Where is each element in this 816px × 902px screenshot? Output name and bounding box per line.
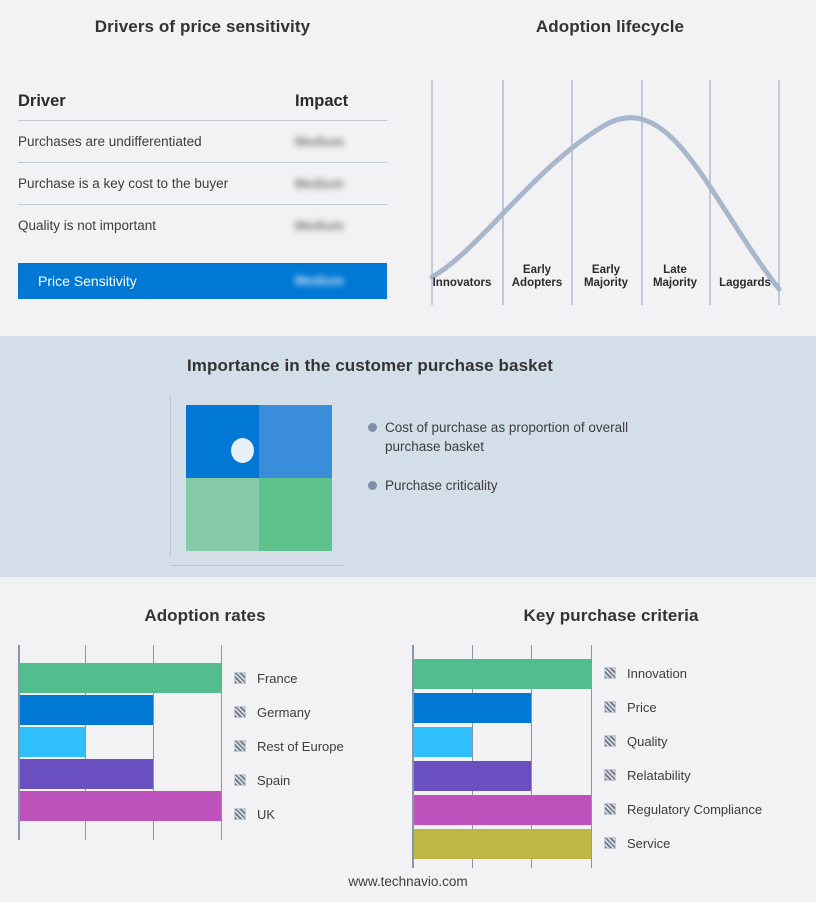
legend-swatch-icon bbox=[234, 808, 246, 820]
legend-item: Price bbox=[604, 690, 762, 724]
legend-swatch-icon bbox=[604, 701, 616, 713]
legend-label: Innovation bbox=[627, 666, 687, 681]
gridline-3 bbox=[591, 645, 592, 868]
column-header-driver: Driver bbox=[18, 92, 295, 111]
key-purchase-criteria-legend: Innovation Price Quality Relatability Re… bbox=[604, 656, 762, 860]
stage-label-line2: Majority bbox=[567, 277, 645, 290]
legend-swatch-icon bbox=[604, 837, 616, 849]
stage-label-line2: Adopters bbox=[498, 277, 576, 290]
column-header-impact: Impact bbox=[295, 92, 387, 111]
stage-label-text: Laggards bbox=[719, 277, 771, 289]
bar-service bbox=[414, 829, 591, 859]
matrix-x-axis bbox=[170, 565, 345, 566]
stage-label-innovators: Innovators bbox=[422, 277, 502, 290]
impact-value-cell: Medium bbox=[295, 217, 387, 235]
driver-label: Quality is not important bbox=[18, 218, 295, 233]
price-sensitivity-summary-row: Price Sensitivity Medium bbox=[18, 263, 387, 299]
basket-legend: Cost of purchase as proportion of overal… bbox=[368, 418, 668, 515]
driver-label: Purchases are undifferentiated bbox=[18, 134, 295, 149]
gridline-3 bbox=[221, 645, 222, 840]
impact-value-obscured: Medium bbox=[295, 219, 344, 233]
legend-label: Germany bbox=[257, 705, 310, 720]
legend-label: Rest of Europe bbox=[257, 739, 344, 754]
stage-label-early-majority: Early Majority bbox=[567, 264, 645, 290]
legend-label: Regulatory Compliance bbox=[627, 802, 762, 817]
legend-item: France bbox=[234, 661, 344, 695]
adoption-rates-title: Adoption rates bbox=[0, 606, 410, 626]
legend-swatch-icon bbox=[604, 735, 616, 747]
key-purchase-criteria-chart bbox=[412, 645, 594, 868]
legend-label: Service bbox=[627, 836, 670, 851]
legend-item: UK bbox=[234, 797, 344, 831]
impact-value-cell: Medium bbox=[295, 175, 387, 193]
bullet-icon bbox=[368, 481, 377, 490]
stage-label-line1: Early bbox=[567, 264, 645, 277]
legend-swatch-icon bbox=[604, 667, 616, 679]
adoption-rates-legend: France Germany Rest of Europe Spain UK bbox=[234, 661, 344, 831]
bullet-icon bbox=[368, 423, 377, 432]
legend-item: Service bbox=[604, 826, 762, 860]
bar-france bbox=[20, 663, 221, 693]
legend-label: Quality bbox=[627, 734, 667, 749]
table-header-row: Driver Impact bbox=[18, 92, 387, 120]
quadrant-bottom-right bbox=[259, 478, 332, 551]
legend-label: Cost of purchase as proportion of overal… bbox=[385, 418, 668, 456]
legend-item: Germany bbox=[234, 695, 344, 729]
legend-item: Cost of purchase as proportion of overal… bbox=[368, 418, 668, 456]
legend-swatch-icon bbox=[604, 803, 616, 815]
bar-relatability bbox=[414, 761, 531, 791]
legend-label: Relatability bbox=[627, 768, 691, 783]
legend-label: Purchase criticality bbox=[385, 476, 498, 495]
legend-item: Quality bbox=[604, 724, 762, 758]
bar-quality bbox=[414, 727, 472, 757]
bar-innovation bbox=[414, 659, 591, 689]
legend-swatch-icon bbox=[234, 706, 246, 718]
legend-label: Price bbox=[627, 700, 657, 715]
impact-value-obscured: Medium bbox=[295, 177, 344, 191]
lifecycle-panel-title: Adoption lifecycle bbox=[410, 17, 810, 37]
quadrant-top-right bbox=[259, 405, 332, 478]
legend-item: Innovation bbox=[604, 656, 762, 690]
legend-label: France bbox=[257, 671, 297, 686]
table-row: Quality is not important Medium bbox=[18, 205, 387, 246]
adoption-lifecycle-chart: Innovators Early Adopters Early Majority… bbox=[410, 70, 810, 315]
table-row: Purchase is a key cost to the buyer Medi… bbox=[18, 163, 387, 204]
bar-price bbox=[414, 693, 531, 723]
purchase-basket-matrix bbox=[170, 396, 345, 566]
impact-value-obscured: Medium bbox=[295, 274, 344, 288]
drivers-panel-title: Drivers of price sensitivity bbox=[18, 17, 387, 37]
table-row: Purchases are undifferentiated Medium bbox=[18, 121, 387, 162]
legend-swatch-icon bbox=[234, 672, 246, 684]
legend-item: Spain bbox=[234, 763, 344, 797]
legend-label: UK bbox=[257, 807, 275, 822]
stage-label-line1: Late bbox=[637, 264, 713, 277]
position-dot-marker bbox=[231, 438, 254, 463]
quadrant-bottom-left bbox=[186, 478, 259, 551]
bar-uk bbox=[20, 791, 221, 821]
drivers-table: Driver Impact Purchases are undifferenti… bbox=[18, 92, 387, 299]
stage-label-text: Innovators bbox=[433, 277, 492, 289]
summary-impact-cell: Medium bbox=[295, 272, 387, 290]
stage-label-line1: Early bbox=[498, 264, 576, 277]
stage-label-laggards: Laggards bbox=[708, 277, 782, 290]
basket-panel-title: Importance in the customer purchase bask… bbox=[0, 356, 740, 376]
legend-item: Regulatory Compliance bbox=[604, 792, 762, 826]
legend-swatch-icon bbox=[234, 740, 246, 752]
legend-item: Rest of Europe bbox=[234, 729, 344, 763]
adoption-rates-chart bbox=[18, 645, 228, 840]
stage-label-line2: Majority bbox=[637, 277, 713, 290]
key-purchase-criteria-title: Key purchase criteria bbox=[406, 606, 816, 626]
impact-value-obscured: Medium bbox=[295, 135, 344, 149]
legend-swatch-icon bbox=[604, 769, 616, 781]
matrix-y-axis bbox=[170, 396, 171, 556]
driver-label: Purchase is a key cost to the buyer bbox=[18, 176, 295, 191]
stage-label-late-majority: Late Majority bbox=[637, 264, 713, 290]
infographic-page: Drivers of price sensitivity Driver Impa… bbox=[0, 0, 816, 902]
legend-item: Purchase criticality bbox=[368, 476, 668, 495]
legend-item: Relatability bbox=[604, 758, 762, 792]
bar-spain bbox=[20, 759, 153, 789]
stage-label-early-adopters: Early Adopters bbox=[498, 264, 576, 290]
quadrant-grid bbox=[186, 405, 332, 551]
footer-url: www.technavio.com bbox=[0, 874, 816, 889]
summary-label: Price Sensitivity bbox=[38, 273, 295, 289]
bar-rest-of-europe bbox=[20, 727, 85, 757]
impact-value-cell: Medium bbox=[295, 133, 387, 151]
bar-germany bbox=[20, 695, 153, 725]
legend-label: Spain bbox=[257, 773, 290, 788]
bar-regulatory-compliance bbox=[414, 795, 591, 825]
legend-swatch-icon bbox=[234, 774, 246, 786]
